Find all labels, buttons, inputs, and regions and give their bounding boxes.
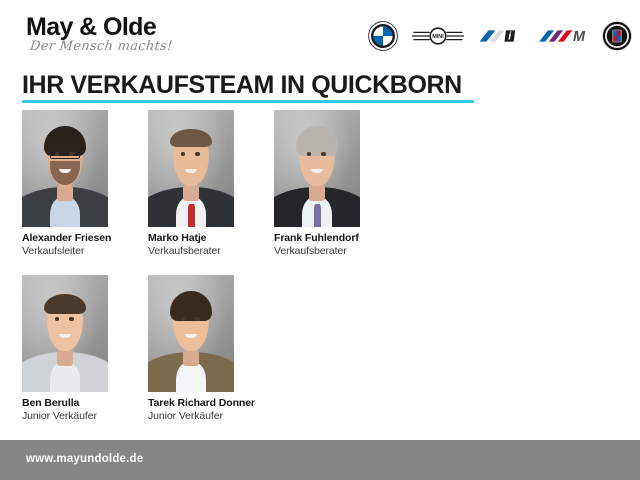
- member-role: Junior Verkäufer: [148, 410, 234, 423]
- team-member-card[interactable]: Marko Hatje Verkaufsberater: [148, 110, 234, 258]
- company-name: May & Olde: [26, 14, 226, 40]
- member-role: Junior Verkäufer: [22, 410, 108, 423]
- member-portrait-photo: [22, 275, 108, 392]
- mini-logo: MINI: [412, 16, 464, 56]
- page-footer: www.mayundolde.de: [0, 440, 640, 480]
- bmw-m-logo: M: [538, 16, 588, 56]
- title-underline-rule: [22, 100, 474, 103]
- company-tagline: Der Mensch machts!: [29, 39, 227, 54]
- member-portrait-photo: [148, 110, 234, 227]
- member-role: Verkaufsleiter: [22, 245, 108, 258]
- member-name: Ben Berulla: [22, 397, 108, 410]
- team-member-card[interactable]: Tarek Richard Donner Junior Verkäufer: [148, 275, 234, 423]
- team-grid: Alexander Friesen Verkaufsleiter Marko H…: [22, 110, 622, 440]
- member-portrait-photo: [22, 110, 108, 227]
- page-title: IHR VERKAUFSTEAM IN QUICKBORN: [22, 72, 618, 99]
- member-role: Verkaufsberater: [148, 245, 234, 258]
- alpina-logo: [602, 16, 632, 56]
- page-title-block: IHR VERKAUFSTEAM IN QUICKBORN: [22, 72, 618, 103]
- svg-text:MINI: MINI: [432, 34, 444, 40]
- member-name: Frank Fuhlendorf: [274, 232, 360, 245]
- member-name: Tarek Richard Donner: [148, 397, 234, 410]
- team-member-card[interactable]: Ben Berulla Junior Verkäufer: [22, 275, 108, 423]
- bmw-logo: [368, 16, 398, 56]
- team-member-card[interactable]: Alexander Friesen Verkaufsleiter: [22, 110, 108, 258]
- member-role: Verkaufsberater: [274, 245, 360, 258]
- member-portrait-photo: [148, 275, 234, 392]
- page-header: May & Olde Der Mensch machts! MINI: [0, 0, 640, 66]
- member-portrait-photo: [274, 110, 360, 227]
- bmw-i-logo: i: [478, 16, 524, 56]
- website-url[interactable]: www.mayundolde.de: [26, 453, 143, 465]
- company-logo[interactable]: May & Olde Der Mensch machts!: [26, 14, 226, 54]
- team-row: Alexander Friesen Verkaufsleiter Marko H…: [22, 110, 622, 258]
- marque-logo-bar: MINI i M: [368, 16, 632, 56]
- member-name: Alexander Friesen: [22, 232, 108, 245]
- team-row: Ben Berulla Junior Verkäufer Tarek Richa…: [22, 275, 622, 423]
- member-name: Marko Hatje: [148, 232, 234, 245]
- svg-text:M: M: [573, 29, 586, 45]
- team-member-card[interactable]: Frank Fuhlendorf Verkaufsberater: [274, 110, 360, 258]
